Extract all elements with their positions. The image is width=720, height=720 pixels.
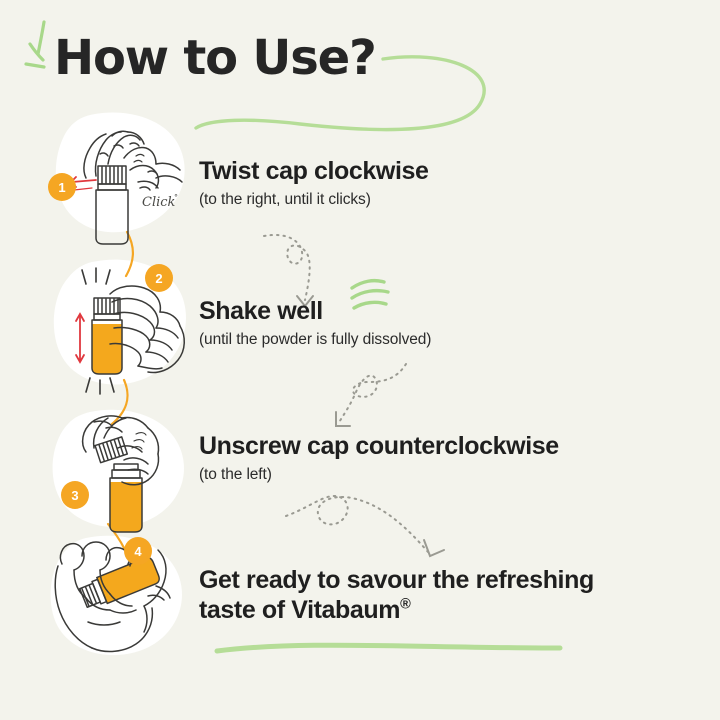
page-title: How to Use? [54, 32, 376, 85]
step-number-badge-2: 2 [145, 264, 173, 292]
step-2-subtext: (until the powder is fully dissolved) [199, 331, 431, 349]
dotted-arrow-step3-to-step4 [286, 496, 428, 552]
green-underline-decoration [217, 645, 560, 651]
step-3-heading: Unscrew cap counterclockwise [199, 432, 559, 462]
dotted-arrow-step2-head [336, 412, 350, 426]
step-2-heading: Shake well [199, 297, 431, 327]
dotted-arrow-step1-to-step2 [264, 235, 310, 300]
step-1-subtext: (to the right, until it clicks) [199, 191, 429, 209]
step-4-heading: Get ready to savour the refreshing taste… [199, 566, 594, 625]
step-4-text-block: Get ready to savour the refreshing taste… [199, 566, 594, 625]
hand-unscrewing-cap-illustration [48, 408, 203, 538]
bottle-liquid [110, 482, 142, 532]
bottle-liquid [92, 324, 122, 374]
step-2-text-block: Shake well (until the powder is fully di… [199, 297, 431, 349]
step-3-subtext: (to the left) [199, 466, 559, 484]
sparkle-lines-decoration [26, 22, 44, 67]
step-number-badge-1: 1 [48, 173, 76, 201]
registered-trademark-symbol: ® [400, 596, 410, 612]
step-1-heading: Twist cap clockwise [199, 157, 429, 187]
step-3-text-block: Unscrew cap counterclockwise (to the lef… [199, 432, 559, 484]
svg-text:°: ° [174, 193, 178, 202]
step-1-text-block: Twist cap clockwise (to the right, until… [199, 157, 429, 209]
how-to-use-infographic: How to Use? [0, 0, 720, 720]
step-number-badge-3: 3 [61, 481, 89, 509]
dotted-arrow-step2-to-step3 [338, 364, 406, 424]
dotted-arrow-step3-head [424, 540, 444, 556]
hand-shaking-bottle-illustration [52, 258, 202, 398]
click-caption: Click [142, 195, 176, 210]
step-number-badge-4: 4 [124, 537, 152, 565]
step-4-heading-main: Get ready to savour the refreshing taste… [199, 566, 594, 624]
